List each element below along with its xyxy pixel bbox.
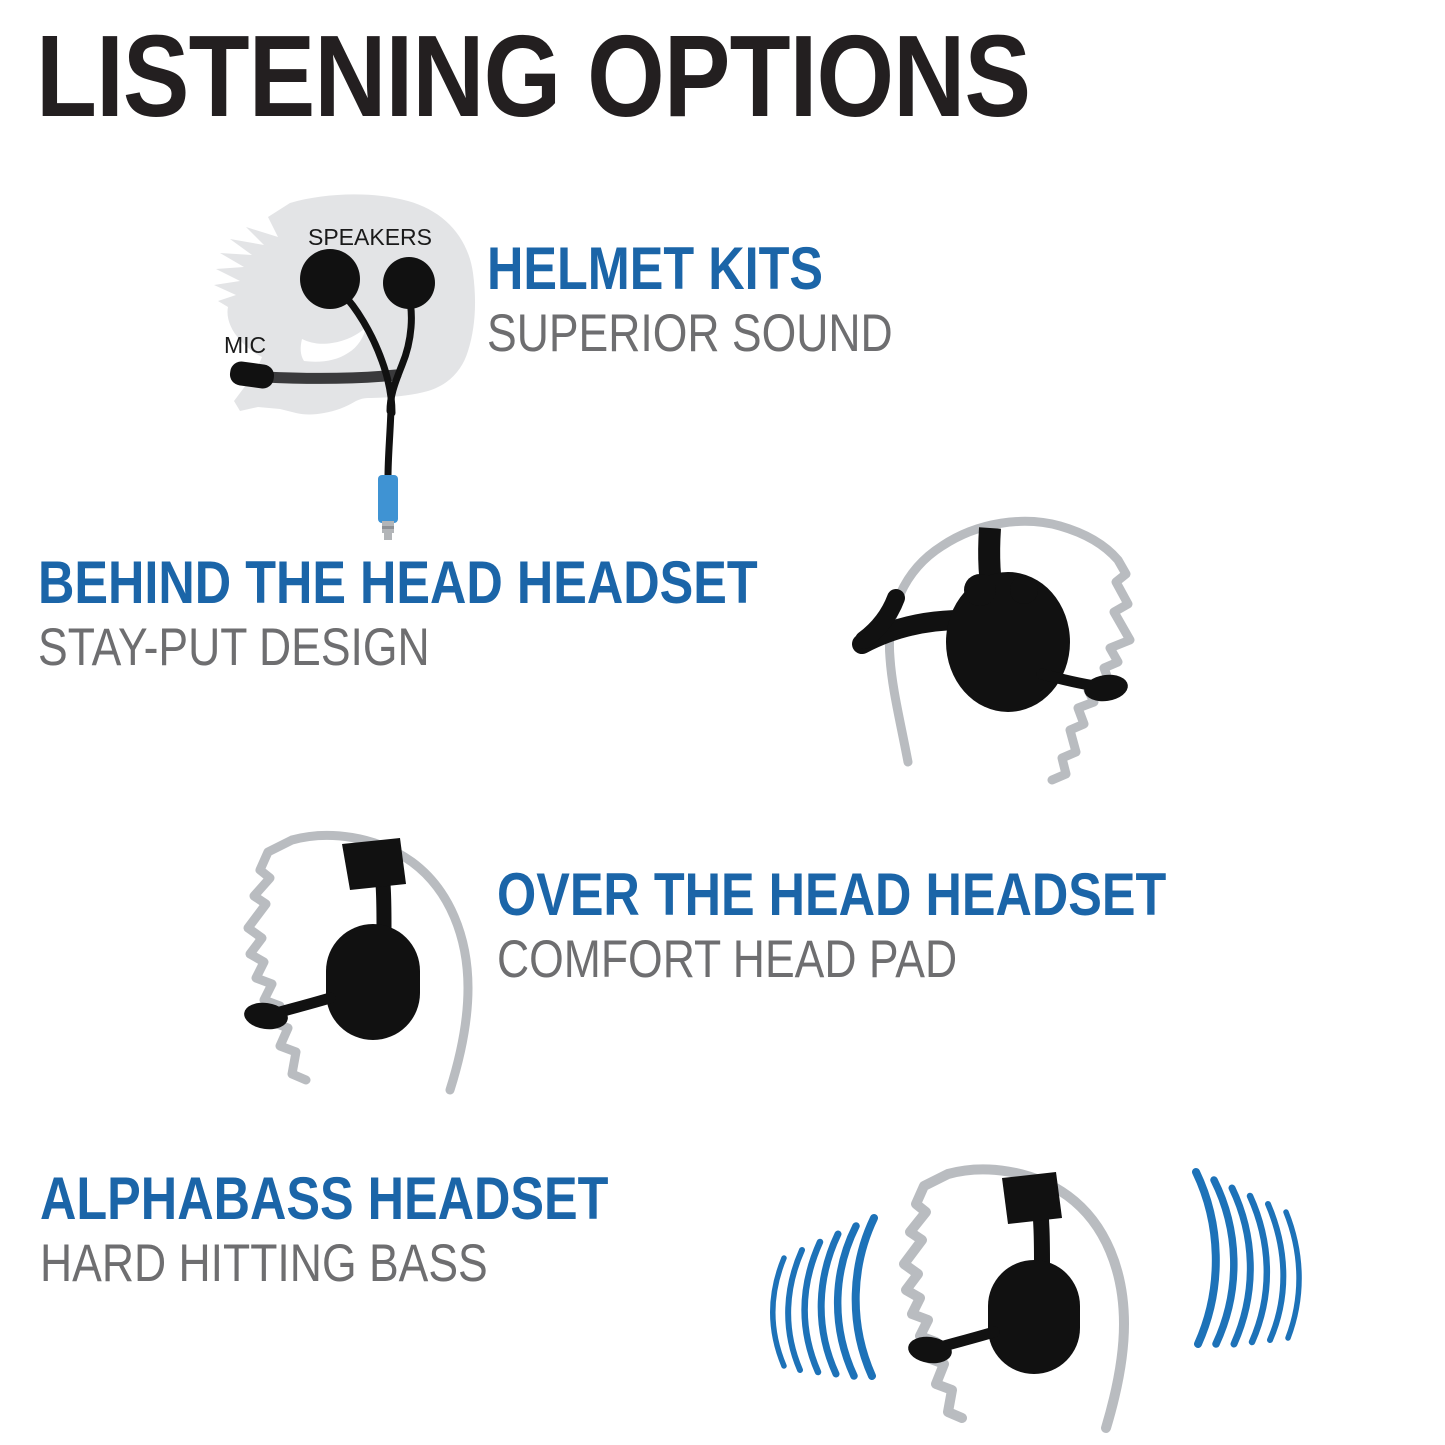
page-title: LISTENING OPTIONS — [36, 18, 1030, 134]
option-subtitle-helmet-kits: SUPERIOR SOUND — [487, 306, 893, 362]
mic-label: MIC — [224, 332, 266, 358]
option-title-helmet-kits: HELMET KITS — [487, 238, 893, 299]
option-text-behind-the-head: BEHIND THE HEAD HEADSET STAY-PUT DESIGN — [38, 552, 895, 676]
speakers-label: SPEAKERS — [308, 224, 432, 250]
over-the-head-headset-illustration — [214, 778, 544, 1098]
soundwave-left — [773, 1218, 874, 1376]
alphabass-headset-illustration — [756, 1076, 1316, 1436]
listening-options-infographic: LISTENING OPTIONS SPEAKERS MIC — [0, 0, 1445, 1445]
option-subtitle-over-the-head: COMFORT HEAD PAD — [497, 932, 1166, 988]
option-text-over-the-head: OVER THE HEAD HEADSET COMFORT HEAD PAD — [497, 864, 1294, 988]
option-subtitle-behind-the-head: STAY-PUT DESIGN — [38, 620, 758, 676]
helmet-kit-illustration: SPEAKERS MIC — [196, 185, 516, 545]
option-text-helmet-kits: HELMET KITS SUPERIOR SOUND — [487, 238, 970, 362]
option-title-alphabass: ALPHABASS HEADSET — [40, 1168, 608, 1229]
soundwave-right — [1196, 1172, 1299, 1344]
behind-the-head-headset-illustration — [838, 462, 1188, 792]
option-title-over-the-head: OVER THE HEAD HEADSET — [497, 864, 1166, 925]
option-subtitle-alphabass: HARD HITTING BASS — [40, 1236, 608, 1292]
option-text-alphabass: ALPHABASS HEADSET HARD HITTING BASS — [40, 1168, 717, 1292]
option-title-behind-the-head: BEHIND THE HEAD HEADSET — [38, 552, 758, 613]
